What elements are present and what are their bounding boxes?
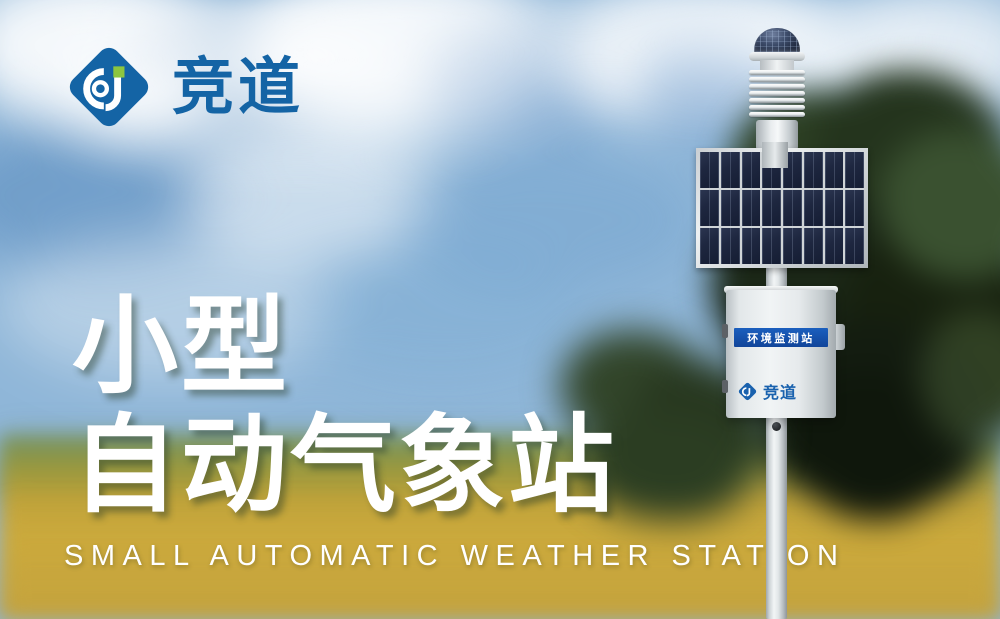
product-banner: 竞道 小型 自动气象站 SMALL AUTOMATIC WEATHER STAT…: [0, 0, 1000, 619]
controller-box-side-tab: [836, 324, 845, 350]
radiation-shield: [749, 70, 805, 122]
controller-box: 环境监测站 竞道: [726, 290, 836, 418]
solar-panel-mount: [762, 142, 788, 168]
controller-box-latch-bottom: [722, 380, 728, 393]
jingdao-diamond-logo-icon-small: [738, 382, 757, 401]
controller-box-logo: 竞道: [738, 380, 824, 402]
ultrasonic-weather-sensor: [740, 28, 814, 148]
brand-name: 竞道: [172, 56, 304, 118]
brand-logo[interactable]: 竞道: [66, 44, 304, 130]
controller-box-screw: [772, 422, 781, 431]
controller-box-latch-top: [722, 324, 728, 338]
headline-block: 小型 自动气象站: [72, 288, 617, 525]
weather-station-device: 环境监测站 竞道: [688, 24, 888, 619]
solar-cell-grid: [700, 152, 864, 264]
controller-box-banner-text: 环境监测站: [747, 330, 815, 346]
headline-line-1: 小型: [72, 288, 617, 407]
jingdao-diamond-logo-icon: [66, 44, 152, 130]
controller-box-logo-text: 竞道: [763, 379, 797, 403]
controller-box-banner: 环境监测站: [734, 328, 828, 347]
headline-line-2: 自动气象站: [72, 407, 617, 526]
